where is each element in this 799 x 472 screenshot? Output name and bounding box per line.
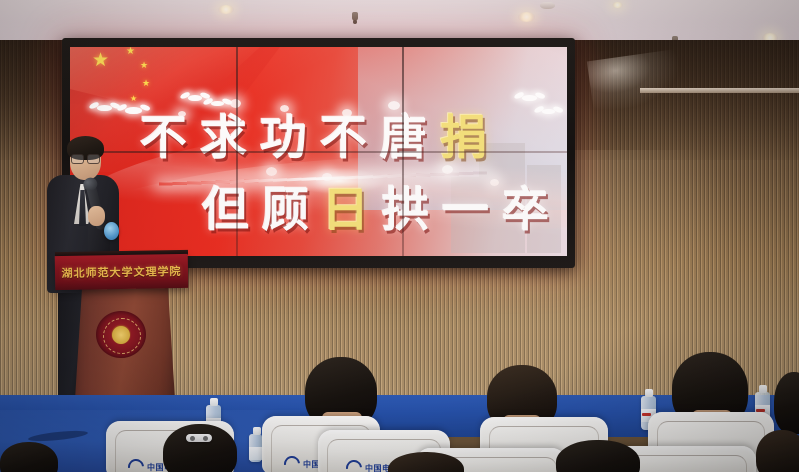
wall-trim-strip xyxy=(640,88,799,93)
emblem-center xyxy=(112,326,130,344)
audience-head-front-2 xyxy=(556,440,640,472)
university-crest-emblem xyxy=(96,311,146,358)
slogan-char-2: 求 xyxy=(200,111,260,166)
slogan-char-1: 不 xyxy=(140,111,200,166)
audience-head-back-4 xyxy=(774,372,799,434)
speaker-lapel-badge xyxy=(104,222,119,240)
sprinkler-head-1 xyxy=(352,12,358,21)
lecture-hall-photo: ★ ★ ★ ★ ★ xyxy=(0,0,799,472)
ceiling-downlight-2 xyxy=(518,12,535,22)
slogan-char-6-highlight: 捐 xyxy=(440,111,500,166)
hair-clip xyxy=(186,434,212,442)
slogan-char-5: 唐 xyxy=(380,111,440,166)
audience-head-front-4 xyxy=(756,430,799,472)
smoke-detector xyxy=(540,2,555,9)
slogan-char-8: 顾 xyxy=(262,183,322,238)
podium-banner-text: 湖北师范大学文理学院 xyxy=(61,263,181,281)
slogan-line-2: 但顾日拱一卒 xyxy=(202,171,562,240)
ceiling-downlight-1 xyxy=(218,5,234,14)
slogan-char-10: 拱 xyxy=(382,183,442,238)
slogan-char-3: 功 xyxy=(260,111,320,166)
china-telecom-swirl-icon xyxy=(281,453,303,472)
glasses-icon xyxy=(71,154,100,162)
ceiling-downlight-4 xyxy=(612,2,623,8)
slogan-char-12: 卒 xyxy=(502,183,562,238)
panel-seam-horizontal-1 xyxy=(70,151,567,153)
led-video-wall-display: ★ ★ ★ ★ ★ xyxy=(70,47,567,256)
slogan-char-11: 一 xyxy=(442,183,502,238)
speaker-hand xyxy=(88,206,105,226)
china-telecom-swirl-icon xyxy=(125,456,147,472)
podium-banner: 湖北师范大学文理学院 xyxy=(55,254,189,290)
bottle-label xyxy=(249,447,262,460)
slogan-line-1: 不求功不唐捐 xyxy=(140,99,500,168)
audience-head-front-woman xyxy=(163,424,237,472)
slogan-char-4: 不 xyxy=(320,111,380,166)
china-telecom-swirl-icon xyxy=(343,457,365,472)
led-video-wall-frame: ★ ★ ★ ★ ★ xyxy=(62,38,575,268)
water-bottle-4 xyxy=(249,434,262,462)
slogan-char-7: 但 xyxy=(202,183,262,238)
bottle-label-accent xyxy=(642,413,651,416)
slogan-char-9-highlight: 日 xyxy=(322,183,382,238)
